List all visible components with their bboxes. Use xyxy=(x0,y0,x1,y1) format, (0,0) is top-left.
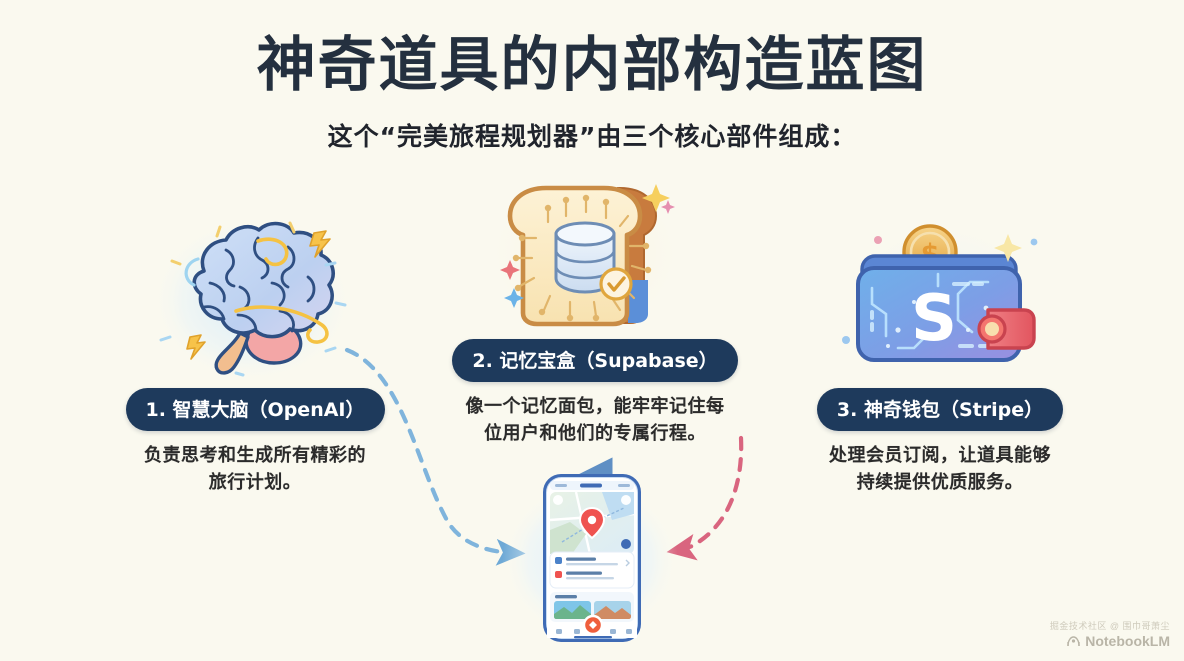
phone-app-mockup xyxy=(498,468,688,648)
badge-stripe[interactable]: 3. 神奇钱包（Stripe） xyxy=(817,388,1063,431)
wallet-illustration: $ S xyxy=(838,212,1048,377)
desc-supabase-line2: 位用户和他们的专属行程。 xyxy=(440,420,750,447)
badge-openai[interactable]: 1. 智慧大脑（OpenAI） xyxy=(126,388,385,431)
desc-openai-line1: 负责思考和生成所有精彩的 xyxy=(105,442,405,469)
watermark-brand-text: NotebookLM xyxy=(1085,633,1170,649)
desc-supabase-line1: 像一个记忆面包，能牢牢记住每 xyxy=(440,393,750,420)
component-supabase: 2. 记忆宝盒（Supabase） 像一个记忆面包，能牢牢记住每 位用户和他们的… xyxy=(440,339,750,447)
badge-supabase[interactable]: 2. 记忆宝盒（Supabase） xyxy=(452,339,737,382)
component-stripe: 3. 神奇钱包（Stripe） 处理会员订阅，让道具能够 持续提供优质服务。 xyxy=(790,388,1090,496)
desc-openai-line2: 旅行计划。 xyxy=(105,469,405,496)
watermark: 掘金技术社区 @ 围巾哥萧尘 NotebookLM xyxy=(1050,619,1170,649)
desc-stripe-line1: 处理会员订阅，让道具能够 xyxy=(790,442,1090,469)
brain-illustration xyxy=(140,205,370,390)
desc-stripe: 处理会员订阅，让道具能够 持续提供优质服务。 xyxy=(790,442,1090,496)
desc-stripe-line2: 持续提供优质服务。 xyxy=(790,469,1090,496)
infographic-canvas: 神奇道具的内部构造蓝图 这个“完美旅程规划器”由三个核心部件组成： xyxy=(0,0,1184,661)
svg-text:S: S xyxy=(911,282,957,356)
watermark-brand: NotebookLM xyxy=(1050,633,1170,649)
toast-database-illustration xyxy=(470,162,700,342)
component-openai: 1. 智慧大脑（OpenAI） 负责思考和生成所有精彩的 旅行计划。 xyxy=(105,388,405,496)
watermark-credit: 掘金技术社区 @ 围巾哥萧尘 xyxy=(1050,619,1170,632)
connector-wallet-to-phone xyxy=(679,438,741,550)
desc-openai: 负责思考和生成所有精彩的 旅行计划。 xyxy=(105,442,405,496)
notebooklm-icon xyxy=(1066,635,1081,648)
desc-supabase: 像一个记忆面包，能牢牢记住每 位用户和他们的专属行程。 xyxy=(440,393,750,447)
